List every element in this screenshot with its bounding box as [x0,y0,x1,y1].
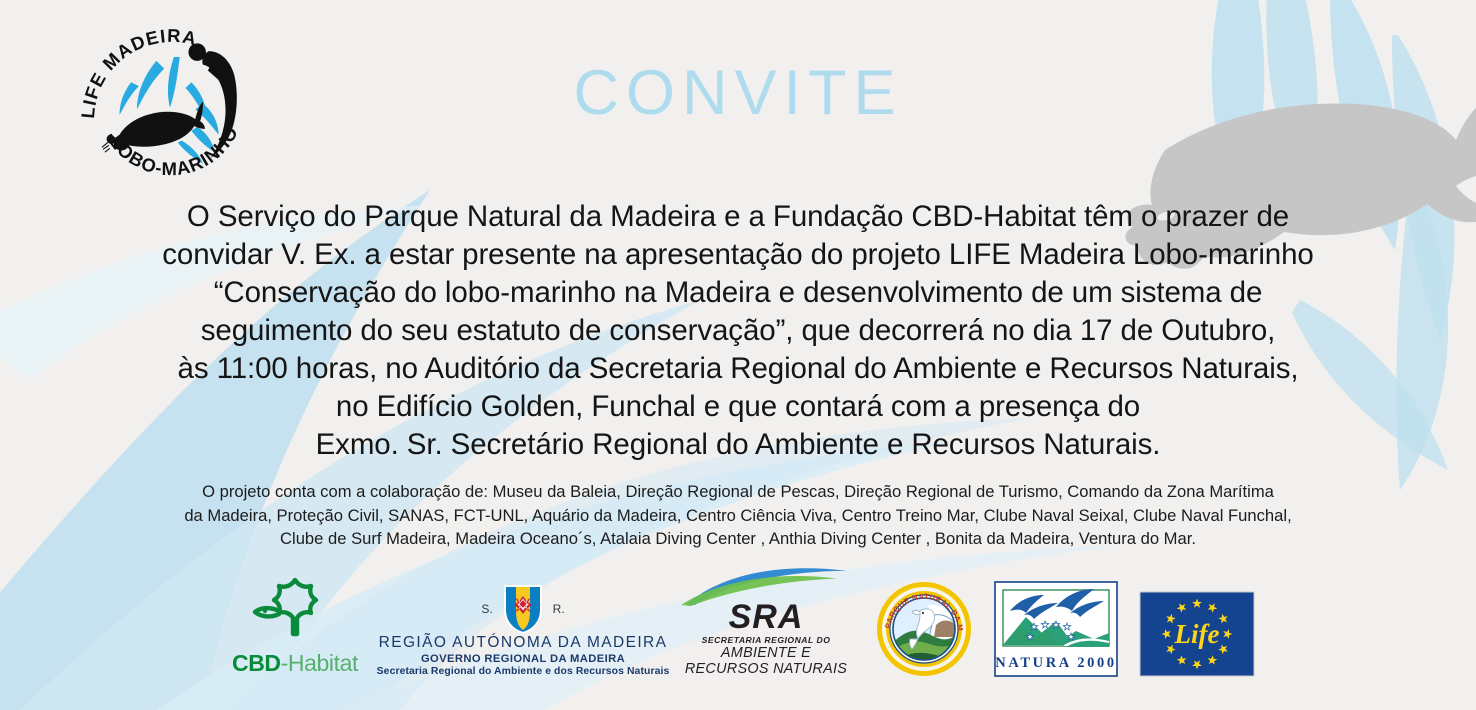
body-line-1: O Serviço do Parque Natural da Madeira e… [60,198,1416,236]
collaborators-line-3: Clube de Surf Madeira, Madeira Oceano´s,… [40,527,1436,551]
body-line-7: Exmo. Sr. Secretário Regional do Ambient… [60,426,1416,464]
logo-cbd-habitat: CBD-Habitat [220,565,370,677]
cbd-bold: CBD [232,650,281,676]
body-line-3: “Conservação do lobo-marinho na Madeira … [60,274,1416,312]
cbd-leaf-fish-icon [249,574,341,648]
madeira-shield-icon [502,584,544,634]
body-line-5: às 11:00 horas, no Auditório da Secretar… [60,350,1416,388]
collaborators-text: O projeto conta com a colaboração de: Mu… [40,480,1436,551]
page-title: CONVITE [0,62,1476,125]
ram-line-1: REGIÃO AUTÓNOMA DA MADEIRA [379,634,668,652]
natura-2000-wordmark: NATURA 2000 [995,655,1116,671]
ram-line-2: GOVERNO REGIONAL DA MADEIRA [421,653,625,665]
logo-natura-2000: NATURA 2000 [992,565,1120,677]
life-wordmark: Life [1174,619,1220,649]
logo-sra: SRA SECRETARIA REGIONAL DO AMBIENTE E RE… [676,565,856,677]
sra-subtitle-1: SECRETARIA REGIONAL DO [702,635,831,645]
body-line-4: seguimento do seu estatuto de conservaçã… [60,312,1416,350]
body-line-6: no Edifício Golden, Funchal e que contar… [60,388,1416,426]
body-line-2: convidar V. Ex. a estar presente na apre… [60,236,1416,274]
invitation-poster: LIFE MADEIRA LOBO-MARINHO CONVITE O Serv… [0,0,1476,710]
logo-life: Life [1138,565,1256,677]
collaborators-line-2: da Madeira, Proteção Civil, SANAS, FCT-U… [40,504,1436,528]
cbd-habitat-wordmark: CBD-Habitat [232,650,358,677]
life-eu-icon: Life [1139,591,1255,677]
cbd-light: -Habitat [281,650,358,676]
sra-subtitle-3: RECURSOS NATURAIS [685,661,847,677]
ram-line-3: Secretaria Regional do Ambiente e dos Re… [377,666,670,677]
collaborators-line-1: O projeto conta com a colaboração de: Mu… [40,480,1436,504]
sra-subtitle-2: AMBIENTE E [721,645,811,661]
logo-regiao-autonoma-madeira: S. R. REGIÃO AUTÓNOMA DA MADEIRA GOVERNO… [388,565,658,677]
natura-2000-icon: NATURA 2000 [994,581,1118,677]
shield-letter-left: S. [481,602,492,616]
logo-parque-natural-madeira: PARQUE NATURAL DA MADEIRA [874,565,974,677]
coat-of-arms-row: S. R. [481,584,564,634]
invitation-body: O Serviço do Parque Natural da Madeira e… [60,198,1416,464]
sponsor-logo-row: CBD-Habitat S. R. REGIÃO AUTÓNOMA [0,560,1476,682]
sra-acronym: SRA [729,600,804,634]
pnm-emblem-icon: PARQUE NATURAL DA MADEIRA [876,581,972,677]
shield-letter-right: R. [553,602,565,616]
